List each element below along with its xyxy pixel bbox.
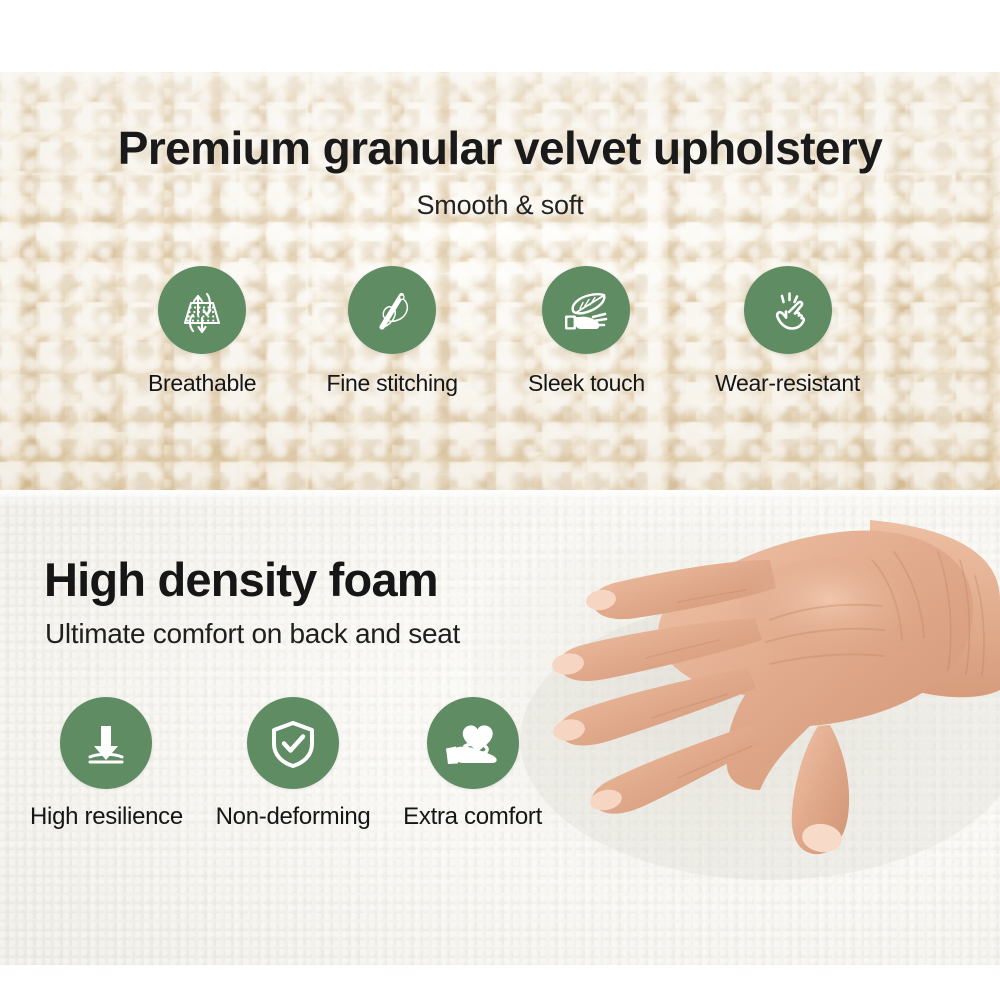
hand-holding-heart-icon [443,713,503,773]
needle-and-thread-icon [364,282,420,338]
breathable-icon-badge [158,266,246,354]
feature-breathable: Breathable [148,266,256,397]
hand-tapping-impact-icon [760,282,816,338]
non-deforming-icon-badge [247,697,339,789]
extra-comfort-icon-badge [427,697,519,789]
feature-sleek-touch: Sleek touch [528,266,645,397]
hand-illustration [470,490,1000,965]
feature-label-wear-resistant: Wear-resistant [715,370,860,397]
feature-label-sleek-touch: Sleek touch [528,370,645,397]
hand-holding-feather-icon [557,281,615,339]
hand-pressing-foam-photo [470,490,1000,965]
upholstery-feature-list: Breathable Fine stitching [148,266,860,397]
foam-subheadline: Ultimate comfort on back and seat [45,618,460,650]
feature-label-breathable: Breathable [148,370,256,397]
high-resilience-icon-badge [60,697,152,789]
feature-high-resilience: High resilience [30,697,183,831]
feature-wear-resistant: Wear-resistant [715,266,860,397]
product-infographic: Premium granular velvet upholstery Smoot… [0,0,1000,1000]
feature-label-fine-stitching: Fine stitching [326,370,457,397]
shield-check-icon [264,714,322,772]
wear-resistant-icon-badge [744,266,832,354]
upholstery-headline: Premium granular velvet upholstery [0,124,1000,172]
upholstery-subheadline: Smooth & soft [0,190,1000,221]
foam-feature-list: High resilience Non-deforming [30,697,542,831]
feature-extra-comfort: Extra comfort [403,697,542,831]
sleek-touch-icon-badge [542,266,630,354]
feature-label-extra-comfort: Extra comfort [403,803,542,831]
foam-headline: High density foam [44,552,438,607]
feature-label-high-resilience: High resilience [30,803,183,831]
feature-non-deforming: Non-deforming [216,697,371,831]
feature-label-non-deforming: Non-deforming [216,803,371,831]
feature-fine-stitching: Fine stitching [326,266,457,397]
down-arrow-on-layers-icon [77,714,135,772]
fine-stitching-icon-badge [348,266,436,354]
breathable-mesh-airflow-icon [174,282,230,338]
